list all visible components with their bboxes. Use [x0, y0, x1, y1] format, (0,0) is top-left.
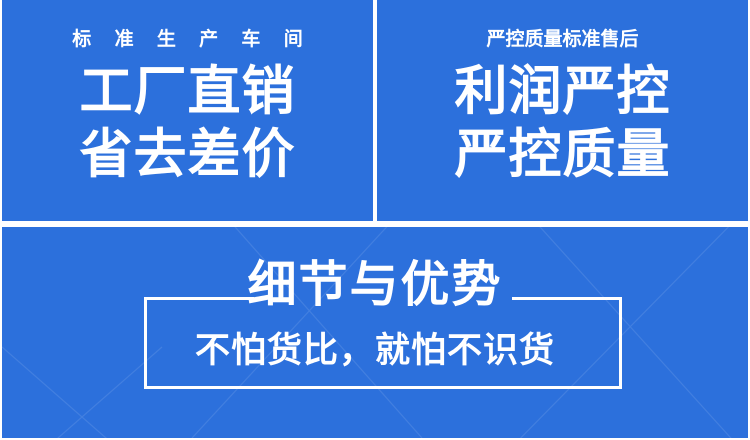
panel-right-eyebrow: 严控质量标准售后	[486, 30, 638, 49]
bottom-subtitle: 不怕货比，就怕不识货	[2, 333, 748, 368]
top-panel-row: 标 准 生 产 车 间 工厂直销 省去差价 严控质量标准售后 利润严控 严控质量	[0, 0, 750, 221]
panel-right-headline-line2: 严控质量	[455, 124, 671, 187]
bottom-title: 细节与优势	[2, 261, 748, 310]
panel-left-headline-line1: 工厂直销	[80, 61, 296, 124]
panel-left-headline-line2: 省去差价	[80, 124, 296, 187]
promotional-banner: 标 准 生 产 车 间 工厂直销 省去差价 严控质量标准售后 利润严控 严控质量…	[0, 0, 750, 440]
panel-right-headline-line1: 利润严控	[455, 61, 671, 124]
panel-quality-control: 严控质量标准售后 利润严控 严控质量	[377, 0, 748, 221]
panel-factory-direct: 标 准 生 产 车 间 工厂直销 省去差价	[2, 0, 373, 221]
panel-left-eyebrow: 标 准 生 产 车 间	[63, 30, 311, 49]
panel-details-advantages: 细节与优势 不怕货比，就怕不识货	[2, 227, 748, 438]
